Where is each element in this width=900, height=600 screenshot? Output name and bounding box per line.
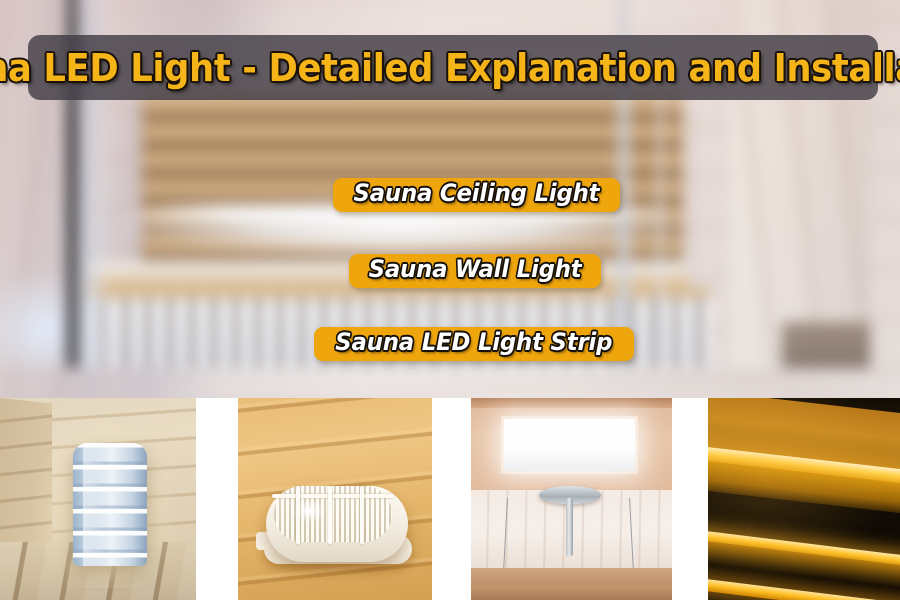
callout-sauna-wall-light-label: Sauna Wall Light xyxy=(369,257,582,283)
callout-sauna-ceiling-light-label: Sauna Ceiling Light xyxy=(353,181,599,207)
t2-cage-vertical-bar-1 xyxy=(296,486,300,544)
t3-recessed-led-panel xyxy=(504,419,635,471)
t3-floor xyxy=(471,586,672,600)
t3-ceiling-trim xyxy=(471,398,672,408)
t3-chrome-rod xyxy=(566,498,573,556)
t2-cage-horizontal-bar xyxy=(272,494,394,498)
thumbnail-cylindrical-louvered-sauna-wall-sconce[interactable] xyxy=(0,398,196,600)
thumbnail-oval-bulkhead-sauna-lamp[interactable] xyxy=(238,398,432,600)
callout-sauna-ceiling-light[interactable]: Sauna Ceiling Light xyxy=(333,178,620,212)
thumbnail-strip xyxy=(0,398,900,600)
thumbnail-recessed-ceiling-led-panel[interactable] xyxy=(471,398,672,600)
callout-sauna-led-light-strip-label: Sauna LED Light Strip xyxy=(335,330,612,356)
t4-ambient-glow xyxy=(708,398,900,600)
thumbnail-led-strip-under-bench[interactable] xyxy=(708,398,900,600)
t2-cage-vertical-bar-2 xyxy=(328,486,332,544)
t1-louvered-sconce xyxy=(73,443,147,566)
title-banner: Sauna LED Light - Detailed Explanation a… xyxy=(28,35,878,100)
t1-sconce-highlight xyxy=(83,443,105,566)
t2-cage-vertical-bar-3 xyxy=(360,486,364,544)
callout-sauna-led-light-strip[interactable]: Sauna LED Light Strip xyxy=(314,327,634,361)
poster: Sauna LED Light - Detailed Explanation a… xyxy=(0,0,900,600)
callout-sauna-wall-light[interactable]: Sauna Wall Light xyxy=(349,254,601,288)
t3-bench xyxy=(471,568,672,588)
page-title: Sauna LED Light - Detailed Explanation a… xyxy=(0,49,900,87)
